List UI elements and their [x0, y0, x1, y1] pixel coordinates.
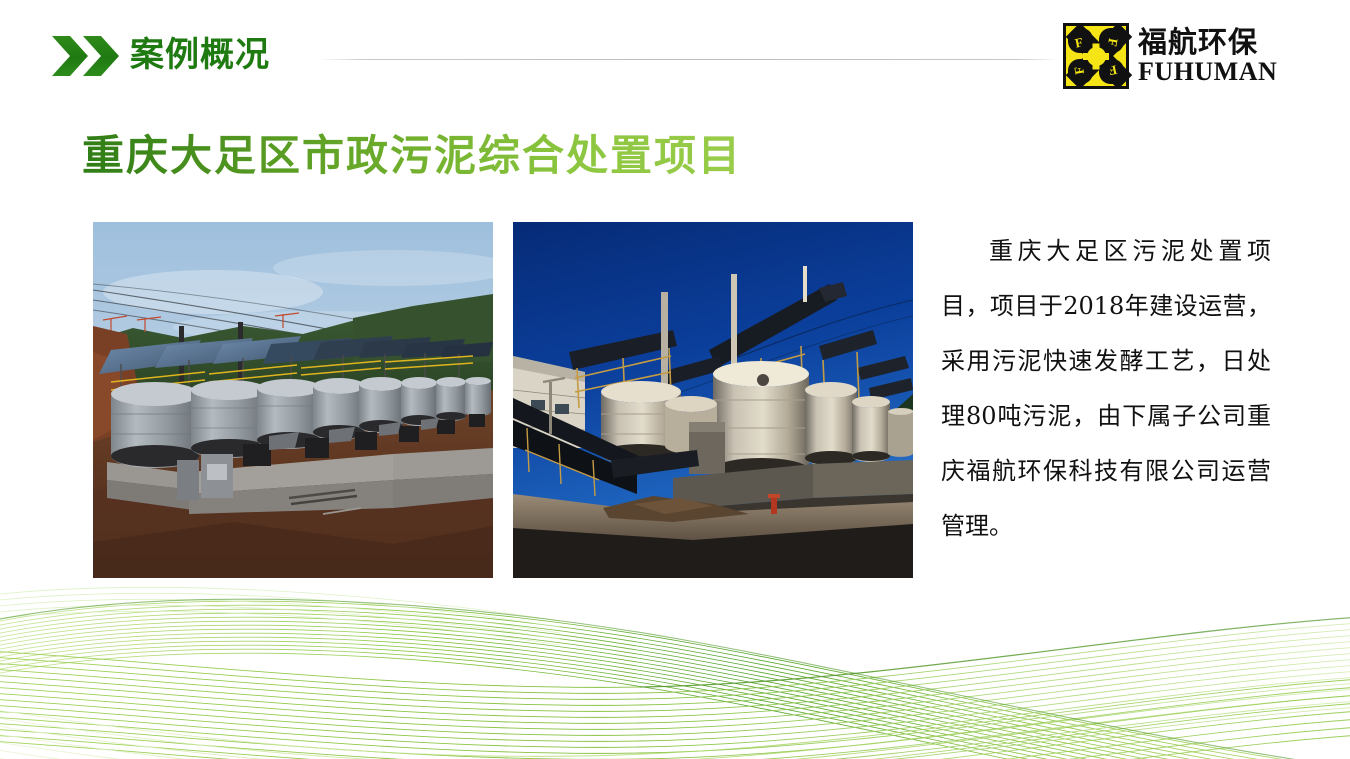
- page-title: 重庆大足区市政污泥综合处置项目: [82, 122, 742, 183]
- logo-wordmark: 福航环保 FUHUMAN: [1138, 26, 1277, 86]
- logo-name-en: FUHUMAN: [1138, 58, 1277, 86]
- gear-sun-icon: [1087, 47, 1106, 66]
- fuhuman-logo-mark-icon: F F F F: [1063, 23, 1129, 89]
- green-wave-ribbon-decoration: [0, 559, 1350, 759]
- header-divider: [320, 59, 1060, 60]
- double-chevron-right-icon: [52, 36, 120, 76]
- company-logo: F F F F 福航环保 FUHUMAN: [1063, 22, 1277, 90]
- slide-canvas: 案例概况 F F F F 福航环保 FUHUMAN 重庆大足区市政污泥综合处置项…: [0, 0, 1350, 759]
- photo-aerial-tank-row: [93, 222, 493, 578]
- logo-name-cn: 福航环保: [1138, 26, 1277, 58]
- project-description: 重庆大足区污泥处置项目，项目于2018年建设运营，采用污泥快速发酵工艺，日处理8…: [941, 224, 1271, 554]
- section-heading: 案例概况: [130, 34, 270, 76]
- photo-tanks-at-dusk: [513, 222, 913, 578]
